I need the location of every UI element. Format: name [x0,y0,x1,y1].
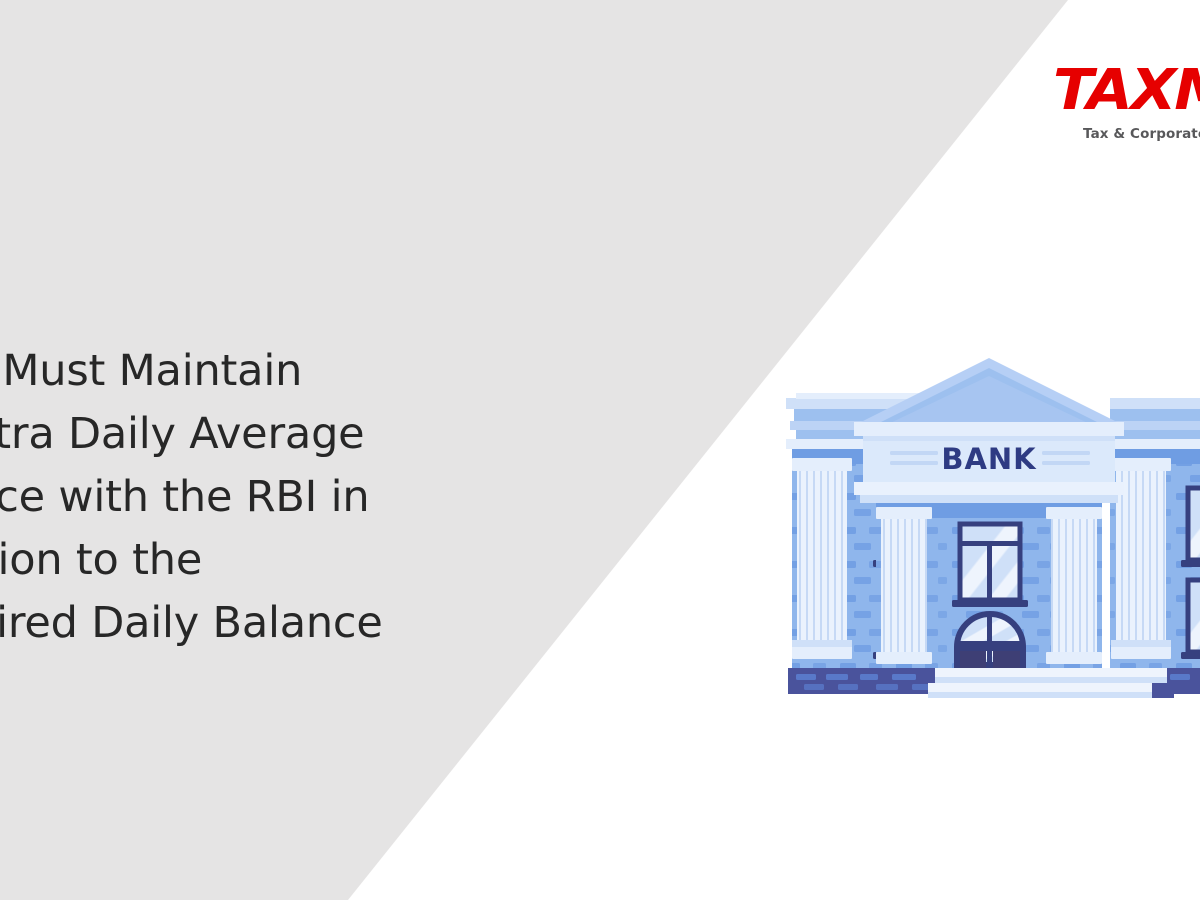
taxmann-logo: TAXMANN Tax & Corporate Laws [1053,62,1200,142]
bank-building-illustration: BANK [780,352,1200,712]
headline-line-3: ance with the RBI in [0,466,562,529]
logo-tagline: Tax & Corporate Laws [1083,126,1200,142]
headline-line-2: Extra Daily Average [0,403,562,466]
headline-block: ks Must Maintain Extra Daily Average anc… [0,340,562,655]
bank-sign-text: BANK [941,442,1037,476]
banner-canvas: ks Must Maintain Extra Daily Average anc… [0,0,1200,900]
logo-wordmark: TAXMANN [1053,62,1200,120]
headline-line-1: ks Must Maintain [0,340,562,403]
headline-line-4: dition to the [0,529,562,592]
headline-line-5: quired Daily Balance [0,592,562,655]
